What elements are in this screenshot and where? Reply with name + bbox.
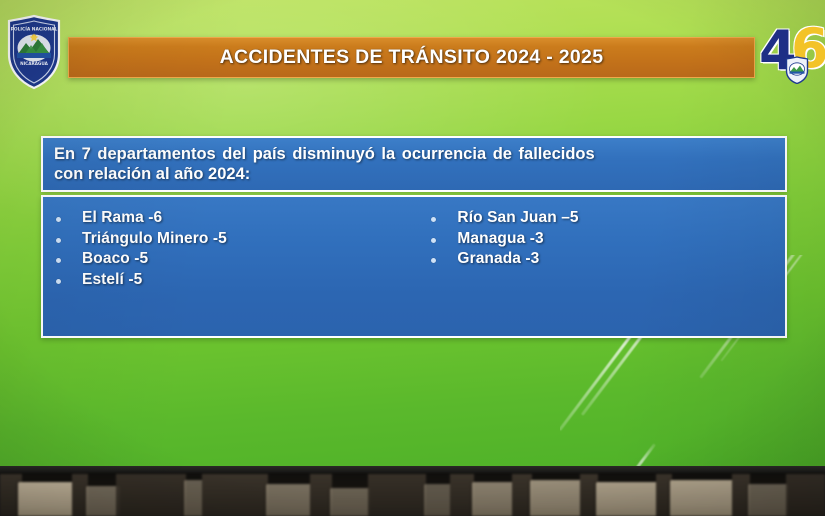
list-item-label: Granada -3 [457, 251, 539, 267]
svg-text:NICARAGUA: NICARAGUA [20, 61, 49, 66]
list-item: Estelí -5 [56, 272, 419, 288]
bullet-column-right: Río San Juan –5 Managua -3 Granada -3 [419, 197, 785, 336]
bullet-dot-icon [431, 217, 436, 222]
list-item-label: Estelí -5 [82, 272, 142, 288]
bullet-dot-icon [431, 258, 436, 263]
panel-body: El Rama -6 Triángulo Minero -5 Boaco -5 … [41, 195, 787, 338]
bullet-column-left: El Rama -6 Triángulo Minero -5 Boaco -5 … [43, 197, 419, 336]
anniversary-seal-icon [785, 56, 809, 84]
list-item: Managua -3 [431, 231, 785, 247]
list-item-label: Managua -3 [457, 231, 543, 247]
list-item: Boaco -5 [56, 251, 419, 267]
bullet-dot-icon [56, 279, 61, 284]
list-item: Río San Juan –5 [431, 210, 785, 226]
bullet-dot-icon [431, 238, 436, 243]
presentation-photo: POLICÍA NACIONAL NICARAGUA ACCIDENTES DE… [0, 0, 825, 516]
panel-header: En 7 departamentos del país disminuyó la… [41, 136, 787, 192]
bullet-dot-icon [56, 217, 61, 222]
list-item-label: El Rama -6 [82, 210, 162, 226]
policia-nacional-shield-icon: POLICÍA NACIONAL NICARAGUA [5, 14, 63, 90]
slide-title-bar: ACCIDENTES DE TRÁNSITO 2024 - 2025 [68, 37, 755, 78]
room-background [0, 473, 825, 516]
panel-header-line-1: En 7 departamentos del país disminuyó la… [54, 144, 775, 164]
list-item-label: Triángulo Minero -5 [82, 231, 227, 247]
list-item-label: Río San Juan –5 [457, 210, 578, 226]
content-panel: En 7 departamentos del país disminuyó la… [41, 136, 787, 341]
bullet-dot-icon [56, 258, 61, 263]
slide-surface: POLICÍA NACIONAL NICARAGUA ACCIDENTES DE… [0, 0, 825, 470]
list-item-label: Boaco -5 [82, 251, 148, 267]
list-item: El Rama -6 [56, 210, 419, 226]
anniversary-46-mark: 6 4 [757, 20, 825, 90]
panel-header-line-2: con relación al año 2024: [54, 164, 775, 184]
page-title: ACCIDENTES DE TRÁNSITO 2024 - 2025 [220, 46, 604, 69]
list-item: Triángulo Minero -5 [56, 231, 419, 247]
bullet-dot-icon [56, 238, 61, 243]
list-item: Granada -3 [431, 251, 785, 267]
